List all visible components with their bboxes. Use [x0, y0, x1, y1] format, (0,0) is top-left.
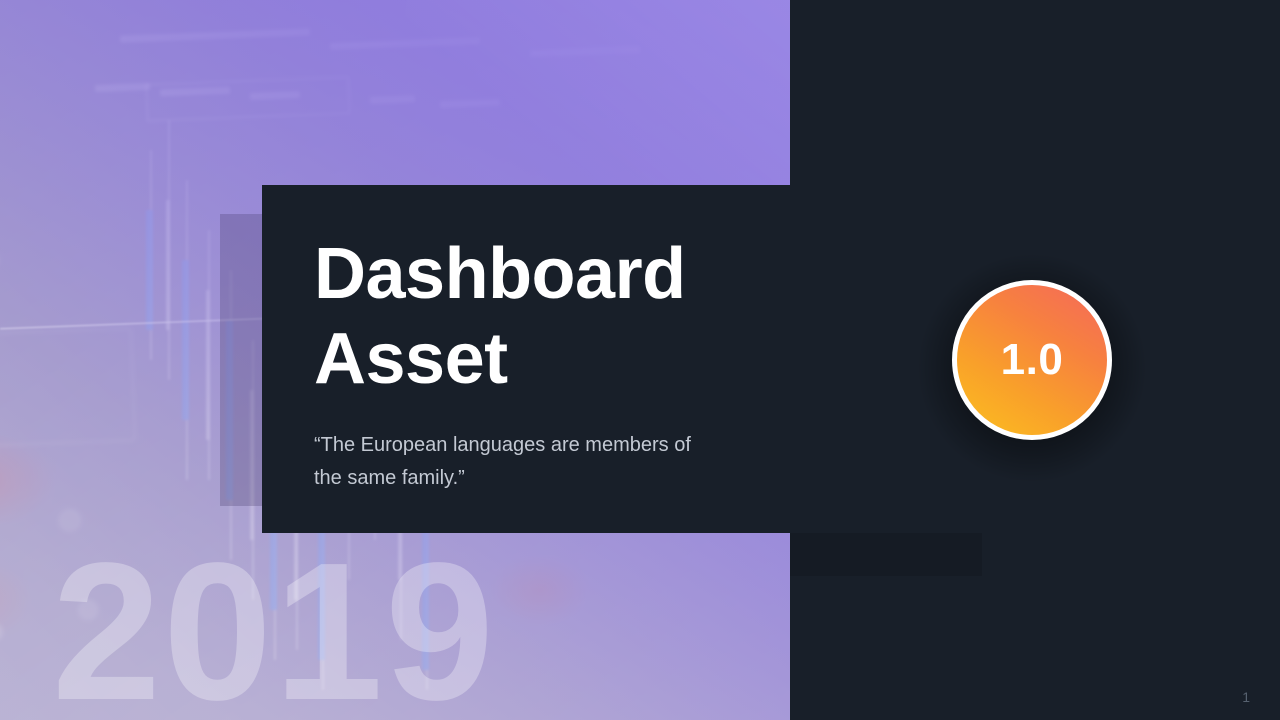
title-card: Dashboard Asset “The European languages …: [262, 185, 790, 533]
badge-label: 1.0: [1001, 338, 1064, 382]
page-title-line-2: Asset: [314, 319, 508, 399]
subtitle-quote: “The European languages are members of t…: [314, 429, 706, 495]
page-number: 1: [1242, 690, 1250, 704]
presentation-slide: 2019 Dashboard Asset “The European langu…: [0, 0, 1280, 720]
version-badge[interactable]: 1.0: [952, 280, 1112, 440]
page-title: Dashboard Asset: [314, 232, 738, 402]
year-watermark: 2019: [52, 534, 496, 720]
badge-circle[interactable]: 1.0: [952, 280, 1112, 440]
card-drop-shadow: [790, 533, 982, 576]
page-title-line-1: Dashboard: [314, 234, 686, 314]
